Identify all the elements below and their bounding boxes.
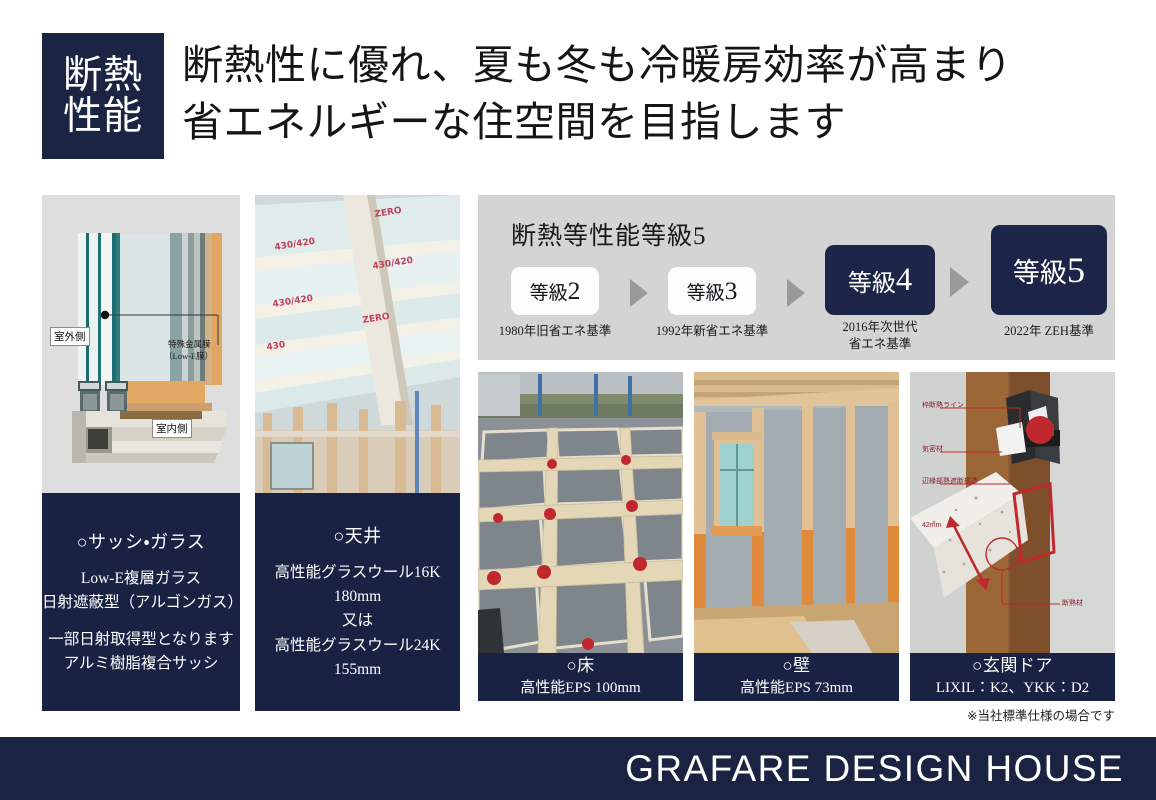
grade-box-3-number: 3: [725, 278, 738, 304]
grade-box-5-number: 5: [1067, 252, 1085, 288]
label-low-e-film-line2: （Low-E膜）: [164, 351, 213, 362]
infographic-page: 断熱 性能 断熱性に優れ、夏も冬も冷暖房効率が高まり 省エネルギーな住空間を目指…: [0, 0, 1156, 800]
window-caption-line-1: Low-E複層ガラス: [81, 567, 201, 591]
floor-caption-spec: 高性能EPS 100mm: [520, 678, 640, 700]
chevron-right-icon-1: [630, 279, 648, 307]
header: 断熱 性能 断熱性に優れ、夏も冬も冷暖房効率が高まり 省エネルギーな住空間を目指…: [0, 0, 1156, 182]
label-interior-side: 室内側: [152, 419, 192, 438]
ceiling-caption-line-1: 高性能グラスウール16K: [275, 561, 441, 585]
wall-section-photo: [694, 372, 899, 653]
door-annotation-frame-insulation-line: 枠断熱ライン: [922, 400, 964, 410]
floor-insulation-illustration: [478, 372, 683, 653]
door-caption-title: ○玄関ドア: [972, 654, 1053, 679]
grade-box-4-number: 4: [896, 264, 912, 296]
window-caption-line-4: アルミ樹脂複合サッシ: [64, 652, 219, 676]
door-caption-spec: LIXIL：K2、YKK：D2: [936, 678, 1089, 700]
door-annotation-edge-thermal-break: 辺縁部熱遮断構造: [922, 476, 978, 486]
grade-note-2: 1980年旧省エネ基準: [485, 323, 625, 340]
label-low-e-film-line1: 特殊金属膜: [168, 339, 211, 350]
ceiling-caption-line-3: 又は: [342, 609, 373, 633]
floor-caption: ○床 高性能EPS 100mm: [478, 653, 683, 701]
window-caption-line-3: 一部日射取得型となります: [48, 628, 234, 652]
badge-line-2: 性能: [63, 96, 143, 137]
grade-box-2-number: 2: [568, 278, 581, 304]
badge-line-1: 断熱: [63, 55, 143, 96]
grade-box-3-prefix: 等級: [687, 278, 725, 305]
ceiling-caption-line-5: 155mm: [334, 658, 381, 682]
grade-box-3: 等級3: [668, 267, 756, 315]
ceiling-caption-line-4: 高性能グラスウール24K: [275, 634, 441, 658]
label-exterior-side: 室外側: [50, 327, 90, 346]
ceiling-insulation-illustration: ZERO 430/420 430/420 430/420 ZERO 430: [255, 195, 460, 493]
grade-box-4: 等級4: [825, 245, 935, 315]
window-section-photo: 室外側 室内側 特殊金属膜 （Low-E膜）: [42, 195, 240, 493]
grade-box-2-prefix: 等級: [530, 278, 568, 305]
headline-line-2: 省エネルギーな住空間を目指します: [182, 94, 1112, 151]
grade-note-5: 2022年 ZEH基準: [979, 323, 1119, 340]
wall-insulation-illustration: [694, 372, 899, 653]
insulation-grade-chart: 断熱等性能等級5 等級2 1980年旧省エネ基準 等級3 1992年新省エネ基準…: [478, 195, 1115, 360]
chevron-right-icon-3: [950, 267, 969, 297]
page-title: 断熱性に優れ、夏も冬も冷暖房効率が高まり 省エネルギーな住空間を目指します: [182, 37, 1112, 150]
wall-caption-spec: 高性能EPS 73mm: [740, 678, 853, 700]
headline-line-1: 断熱性に優れ、夏も冬も冷暖房効率が高まり: [182, 37, 1112, 94]
standard-spec-note: ※当社標準仕様の場合です: [967, 705, 1115, 724]
floor-section-photo: [478, 372, 683, 653]
grade-note-3: 1992年新省エネ基準: [642, 323, 782, 340]
ceiling-caption-line-2: 180mm: [334, 585, 381, 609]
footer-bar: GRAFARE DESIGN HOUSE: [0, 737, 1156, 800]
door-annotation-airtight-material: 気密材: [922, 444, 943, 454]
door-section-photo: 枠断熱ライン 気密材 辺縁部熱遮断構造 42mm 断熱材: [910, 372, 1115, 653]
door-cross-section-illustration: [910, 372, 1115, 653]
window-caption-title: ○サッシ・ガラス: [77, 528, 206, 554]
grade-note-4-line-2: 省エネ基準: [815, 336, 945, 353]
window-caption-line-2: 日射遮蔽型（アルゴンガス）: [42, 591, 240, 615]
floor-caption-title: ○床: [566, 654, 594, 679]
grade-box-2: 等級2: [511, 267, 599, 315]
wall-caption: ○壁 高性能EPS 73mm: [694, 653, 899, 701]
grade-box-4-prefix: 等級: [848, 263, 896, 298]
window-caption: ○サッシ・ガラス Low-E複層ガラス 日射遮蔽型（アルゴンガス） 一部日射取得…: [42, 493, 240, 711]
ceiling-section-photo: ZERO 430/420 430/420 430/420 ZERO 430: [255, 195, 460, 493]
door-annotation-insulation-material: 断熱材: [1062, 598, 1083, 608]
brand-name: GRAFARE DESIGN HOUSE: [625, 748, 1124, 790]
door-caption: ○玄関ドア LIXIL：K2、YKK：D2: [910, 653, 1115, 701]
wall-caption-title: ○壁: [782, 654, 810, 679]
chevron-right-icon-2: [787, 279, 805, 307]
section-badge: 断熱 性能: [42, 33, 164, 159]
grade-box-5: 等級5: [991, 225, 1107, 315]
grade-note-4: 2016年次世代 省エネ基準: [815, 319, 945, 352]
grade-box-5-prefix: 等級: [1013, 251, 1067, 290]
grade-chart-title: 断熱等性能等級5: [511, 216, 707, 252]
door-annotation-thickness: 42mm: [922, 522, 941, 529]
ceiling-caption-title: ○天井: [333, 522, 381, 548]
grade-note-4-line-1: 2016年次世代: [815, 319, 945, 336]
ceiling-caption: ○天井 高性能グラスウール16K 180mm 又は 高性能グラスウール24K 1…: [255, 493, 460, 711]
